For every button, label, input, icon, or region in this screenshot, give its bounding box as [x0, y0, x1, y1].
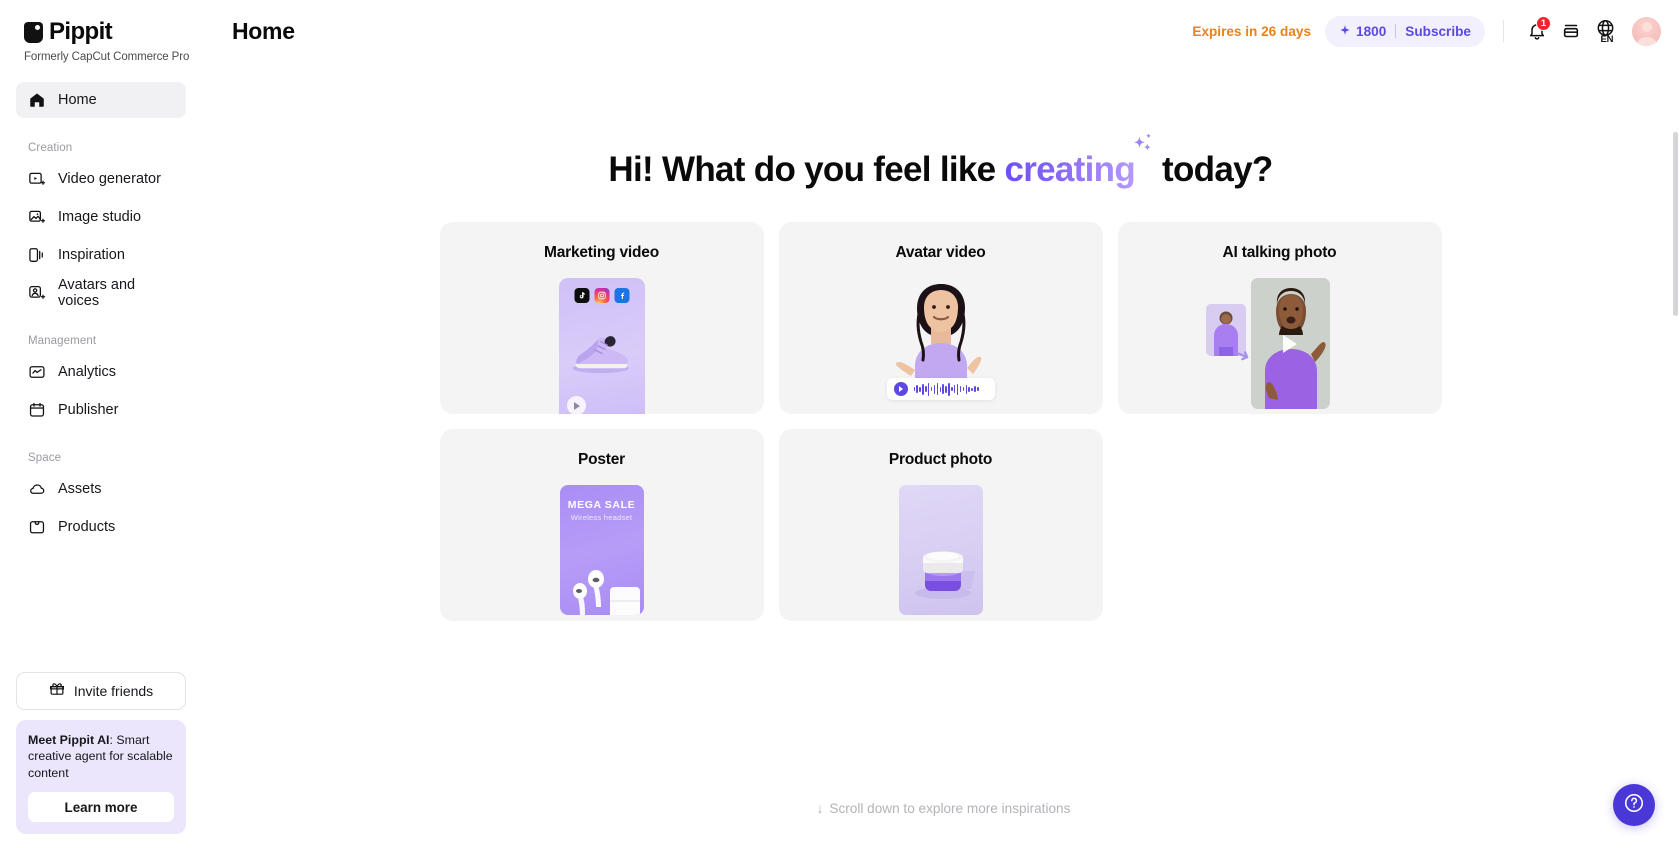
- sidebar-item-assets[interactable]: Assets: [16, 471, 186, 507]
- products-box-icon: [28, 518, 46, 536]
- card-title: Avatar video: [779, 222, 1103, 262]
- invite-friends-button[interactable]: Invite friends: [16, 672, 186, 710]
- play-icon: [894, 382, 908, 396]
- notifications-button[interactable]: 1: [1520, 14, 1554, 48]
- brand-tagline: Formerly CapCut Commerce Pro: [24, 51, 202, 63]
- poster-mockup: MEGA SALE Wireless headset: [560, 485, 644, 615]
- poster-subheadline: Wireless headset: [560, 513, 644, 522]
- sidebar-item-label: Publisher: [58, 402, 118, 418]
- sidebar-group-space: Space Assets Products: [0, 430, 202, 547]
- poster-headline: MEGA SALE: [560, 499, 644, 511]
- card-art-product-photo: [779, 481, 1103, 621]
- language-code: EN: [1601, 34, 1614, 45]
- top-bar: Home Expires in 26 days 1800 Subscribe: [202, 0, 1679, 62]
- notification-badge: 1: [1536, 16, 1551, 31]
- content-area: Hi! What do you feel like creating✦✦✦ to…: [202, 62, 1679, 848]
- phone-mockup: [559, 278, 645, 414]
- sidebar-item-video-generator[interactable]: Video generator: [16, 161, 186, 197]
- play-icon: [1283, 335, 1297, 353]
- card-title: Poster: [440, 429, 764, 469]
- card-marketing-video[interactable]: Marketing video: [440, 222, 764, 414]
- pill-divider: [1395, 24, 1396, 38]
- card-art-avatar-video: [779, 274, 1103, 414]
- product-photo-mockup: [899, 485, 983, 615]
- sidebar-group-label: Creation: [16, 142, 186, 154]
- app-root: Pippit Formerly CapCut Commerce Pro Home…: [0, 0, 1679, 848]
- brand-name: Pippit: [49, 18, 112, 46]
- sidebar-item-inspiration[interactable]: Inspiration: [16, 237, 186, 273]
- scroll-hint-text: Scroll down to explore more inspirations: [829, 801, 1070, 816]
- sidebar-item-label: Image studio: [58, 209, 141, 225]
- sparkle-credit-icon: [1339, 24, 1351, 39]
- facebook-icon: [614, 288, 629, 303]
- subscribe-button[interactable]: Subscribe: [1405, 24, 1471, 39]
- sidebar-group-label: Space: [16, 452, 186, 464]
- card-row-2: Poster MEGA SALE Wireless headset: [440, 429, 1442, 621]
- sidebar-item-label: Products: [58, 519, 115, 535]
- card-title: Marketing video: [440, 222, 764, 262]
- sidebar-group-management: Management Analytics Publisher: [0, 313, 202, 430]
- promo-bold: Meet Pippit AI: [28, 733, 109, 747]
- sidebar-item-label: Inspiration: [58, 247, 125, 263]
- template-card-grid: Marketing video: [440, 222, 1442, 621]
- result-video-thumbnail: [1251, 278, 1330, 409]
- video-generator-icon: [28, 170, 46, 188]
- instagram-icon: [594, 288, 609, 303]
- help-button[interactable]: [1613, 784, 1655, 826]
- image-studio-icon: [28, 208, 46, 226]
- sidebar-item-publisher[interactable]: Publisher: [16, 392, 186, 428]
- avatar-person-image: [887, 274, 995, 394]
- sidebar-item-label: Home: [58, 92, 97, 108]
- cloud-assets-icon: [28, 480, 46, 498]
- sidebar-item-label: Video generator: [58, 171, 161, 187]
- sidebar-item-label: Analytics: [58, 364, 116, 380]
- invite-friends-label: Invite friends: [74, 683, 153, 699]
- promo-card: Meet Pippit AI: Smart creative agent for…: [16, 720, 186, 835]
- scroll-hint: ↓Scroll down to explore more inspiration…: [202, 801, 1679, 816]
- language-switcher[interactable]: EN: [1588, 14, 1622, 48]
- credits-value: 1800: [1356, 24, 1386, 39]
- card-title: AI talking photo: [1118, 222, 1442, 262]
- sidebar-item-avatars-and-voices[interactable]: Avatars and voices: [16, 275, 186, 311]
- sidebar-group-creation: Creation Video generator Image studio In…: [0, 120, 202, 313]
- learn-more-button[interactable]: Learn more: [28, 792, 174, 822]
- card-art-marketing-video: [440, 274, 764, 414]
- sidebar-primary-nav: Home: [0, 82, 202, 120]
- sidebar-item-label: Assets: [58, 481, 102, 497]
- sidebar-item-analytics[interactable]: Analytics: [16, 354, 186, 390]
- card-row-1: Marketing video: [440, 222, 1442, 414]
- avatar[interactable]: [1632, 17, 1661, 46]
- credits-value-wrap: 1800: [1339, 24, 1386, 39]
- sidebar-item-products[interactable]: Products: [16, 509, 186, 545]
- scrollbar[interactable]: [1672, 124, 1679, 848]
- promo-text: Meet Pippit AI: Smart creative agent for…: [28, 732, 174, 782]
- sidebar: Pippit Formerly CapCut Commerce Pro Home…: [0, 0, 202, 848]
- cosmetic-jar-image: [899, 485, 983, 615]
- tiktok-icon: [574, 288, 589, 303]
- scroll-arrow-icon: ↓: [817, 801, 824, 816]
- sidebar-item-image-studio[interactable]: Image studio: [16, 199, 186, 235]
- sidebar-item-home[interactable]: Home: [16, 82, 186, 118]
- audio-waveform-bar: [887, 378, 995, 400]
- heading-prefix: Hi! What do you feel like: [608, 150, 1004, 189]
- avatars-voices-icon: [28, 284, 46, 302]
- card-avatar-video[interactable]: Avatar video: [779, 222, 1103, 414]
- scrollbar-thumb[interactable]: [1673, 132, 1678, 316]
- social-icon-row: [574, 288, 629, 303]
- sidebar-item-label: Avatars and voices: [58, 277, 174, 309]
- brand-block[interactable]: Pippit Formerly CapCut Commerce Pro: [0, 0, 202, 63]
- card-poster[interactable]: Poster MEGA SALE Wireless headset: [440, 429, 764, 621]
- top-bar-divider: [1503, 20, 1504, 42]
- card-art-poster: MEGA SALE Wireless headset: [440, 481, 764, 621]
- heading-suffix: today?: [1153, 150, 1273, 189]
- card-art-ai-talking-photo: ➜: [1118, 274, 1442, 414]
- credits-subscribe-pill[interactable]: 1800 Subscribe: [1325, 16, 1485, 47]
- card-ai-talking-photo[interactable]: AI talking photo: [1118, 222, 1442, 414]
- gift-icon: [49, 681, 65, 700]
- waveform: [914, 382, 979, 396]
- main-area: Home Expires in 26 days 1800 Subscribe: [202, 0, 1679, 848]
- card-title: Product photo: [779, 429, 1103, 469]
- page-heading: Hi! What do you feel like creating✦✦✦ to…: [202, 146, 1679, 190]
- sparkle-decoration-icon: ✦✦✦: [1135, 146, 1153, 181]
- sidebar-group-label: Management: [16, 335, 186, 347]
- play-icon: [567, 396, 586, 414]
- card-product-photo[interactable]: Product photo: [779, 429, 1103, 621]
- card-stack-icon: [1561, 21, 1581, 41]
- inspiration-icon: [28, 246, 46, 264]
- sidebar-footer: Invite friends Meet Pippit AI: Smart cre…: [0, 672, 202, 848]
- help-question-icon: [1623, 792, 1645, 819]
- publisher-calendar-icon: [28, 401, 46, 419]
- expires-label: Expires in 26 days: [1192, 24, 1311, 39]
- sneaker-product-image: [567, 322, 637, 378]
- heading-highlight: creating: [1004, 150, 1135, 189]
- home-icon: [28, 91, 46, 109]
- pippit-logo-icon: [24, 22, 43, 43]
- analytics-icon: [28, 363, 46, 381]
- page-title: Home: [232, 18, 295, 45]
- earbuds-product-image: [560, 535, 644, 615]
- wallet-button[interactable]: [1554, 14, 1588, 48]
- top-bar-right: Expires in 26 days 1800 Subscribe: [1192, 14, 1661, 48]
